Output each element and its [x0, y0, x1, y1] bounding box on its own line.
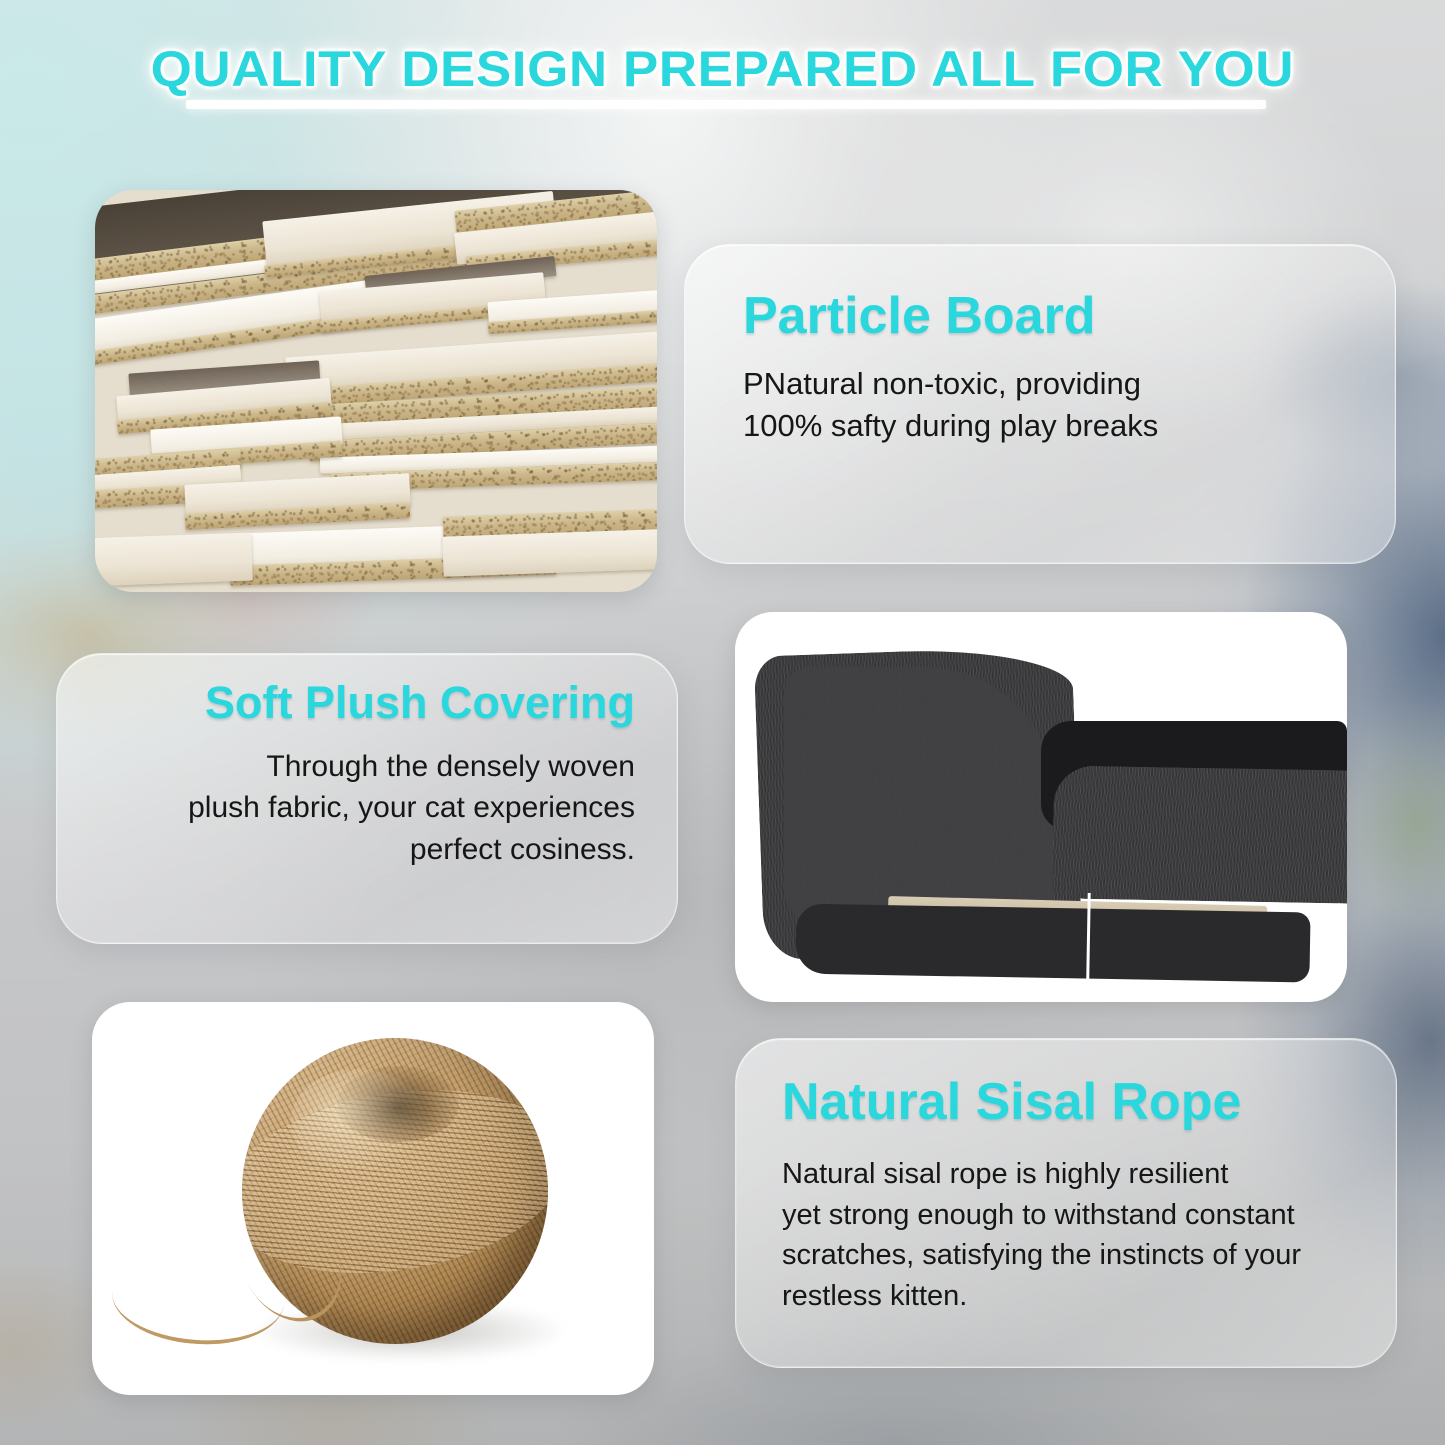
feature-heading-natural-sisal-rope: Natural Sisal Rope: [782, 1075, 1241, 1130]
soft-plush-photo: [735, 612, 1347, 1002]
sisal-ball-highlight: [291, 1069, 426, 1173]
soft-plush-photo-surface: [735, 612, 1347, 1002]
feature-body-line: plush fabric, your cat experiences: [115, 787, 635, 828]
feature-heading-soft-plush-covering: Soft Plush Covering: [205, 679, 635, 726]
sisal-rope-photo-surface: [92, 1002, 654, 1395]
feature-body-line: Natural sisal rope is highly resilient: [782, 1154, 1377, 1195]
feature-card-soft-plush-covering: Soft Plush Covering Through the densely …: [56, 653, 678, 944]
feature-heading-particle-board: Particle Board: [743, 289, 1096, 344]
particle-board-photo-surface: [95, 190, 657, 592]
poster-title: QUALITY DESIGN PREPARED ALL FOR YOU: [151, 40, 1294, 98]
feature-card-particle-board: Particle Board PNatural non-toxic, provi…: [684, 244, 1396, 564]
feature-body-line: yet strong enough to withstand constant: [782, 1195, 1377, 1236]
feature-body-soft-plush-covering: Through the densely woven plush fabric, …: [115, 746, 635, 870]
feature-body-particle-board: PNatural non-toxic, providing 100% safty…: [743, 363, 1158, 447]
plush-flap-highlight: [784, 667, 1053, 924]
feature-body-natural-sisal-rope: Natural sisal rope is highly resilient y…: [782, 1154, 1377, 1316]
feature-body-line: scratches, satisfying the instincts of y…: [782, 1235, 1377, 1276]
feature-body-line: Through the densely woven: [115, 746, 635, 787]
plush-lower-lip: [796, 904, 1311, 983]
feature-body-line: perfect cosiness.: [115, 829, 635, 870]
board-plank: [95, 532, 253, 587]
plush-rolled-edge: [1052, 765, 1347, 903]
feature-body-line: 100% safty during play breaks: [743, 405, 1158, 447]
infographic-poster: QUALITY DESIGN PREPARED ALL FOR YOU: [0, 0, 1445, 1445]
feature-body-line: PNatural non-toxic, providing: [743, 363, 1158, 405]
feature-body-line: restless kitten.: [782, 1276, 1377, 1317]
sisal-rope-photo: [92, 1002, 654, 1395]
particle-board-photo: [95, 190, 657, 592]
feature-card-natural-sisal-rope: Natural Sisal Rope Natural sisal rope is…: [735, 1038, 1397, 1368]
poster-title-wrap: QUALITY DESIGN PREPARED ALL FOR YOU: [0, 40, 1445, 98]
title-underline-rule: [186, 100, 1266, 109]
